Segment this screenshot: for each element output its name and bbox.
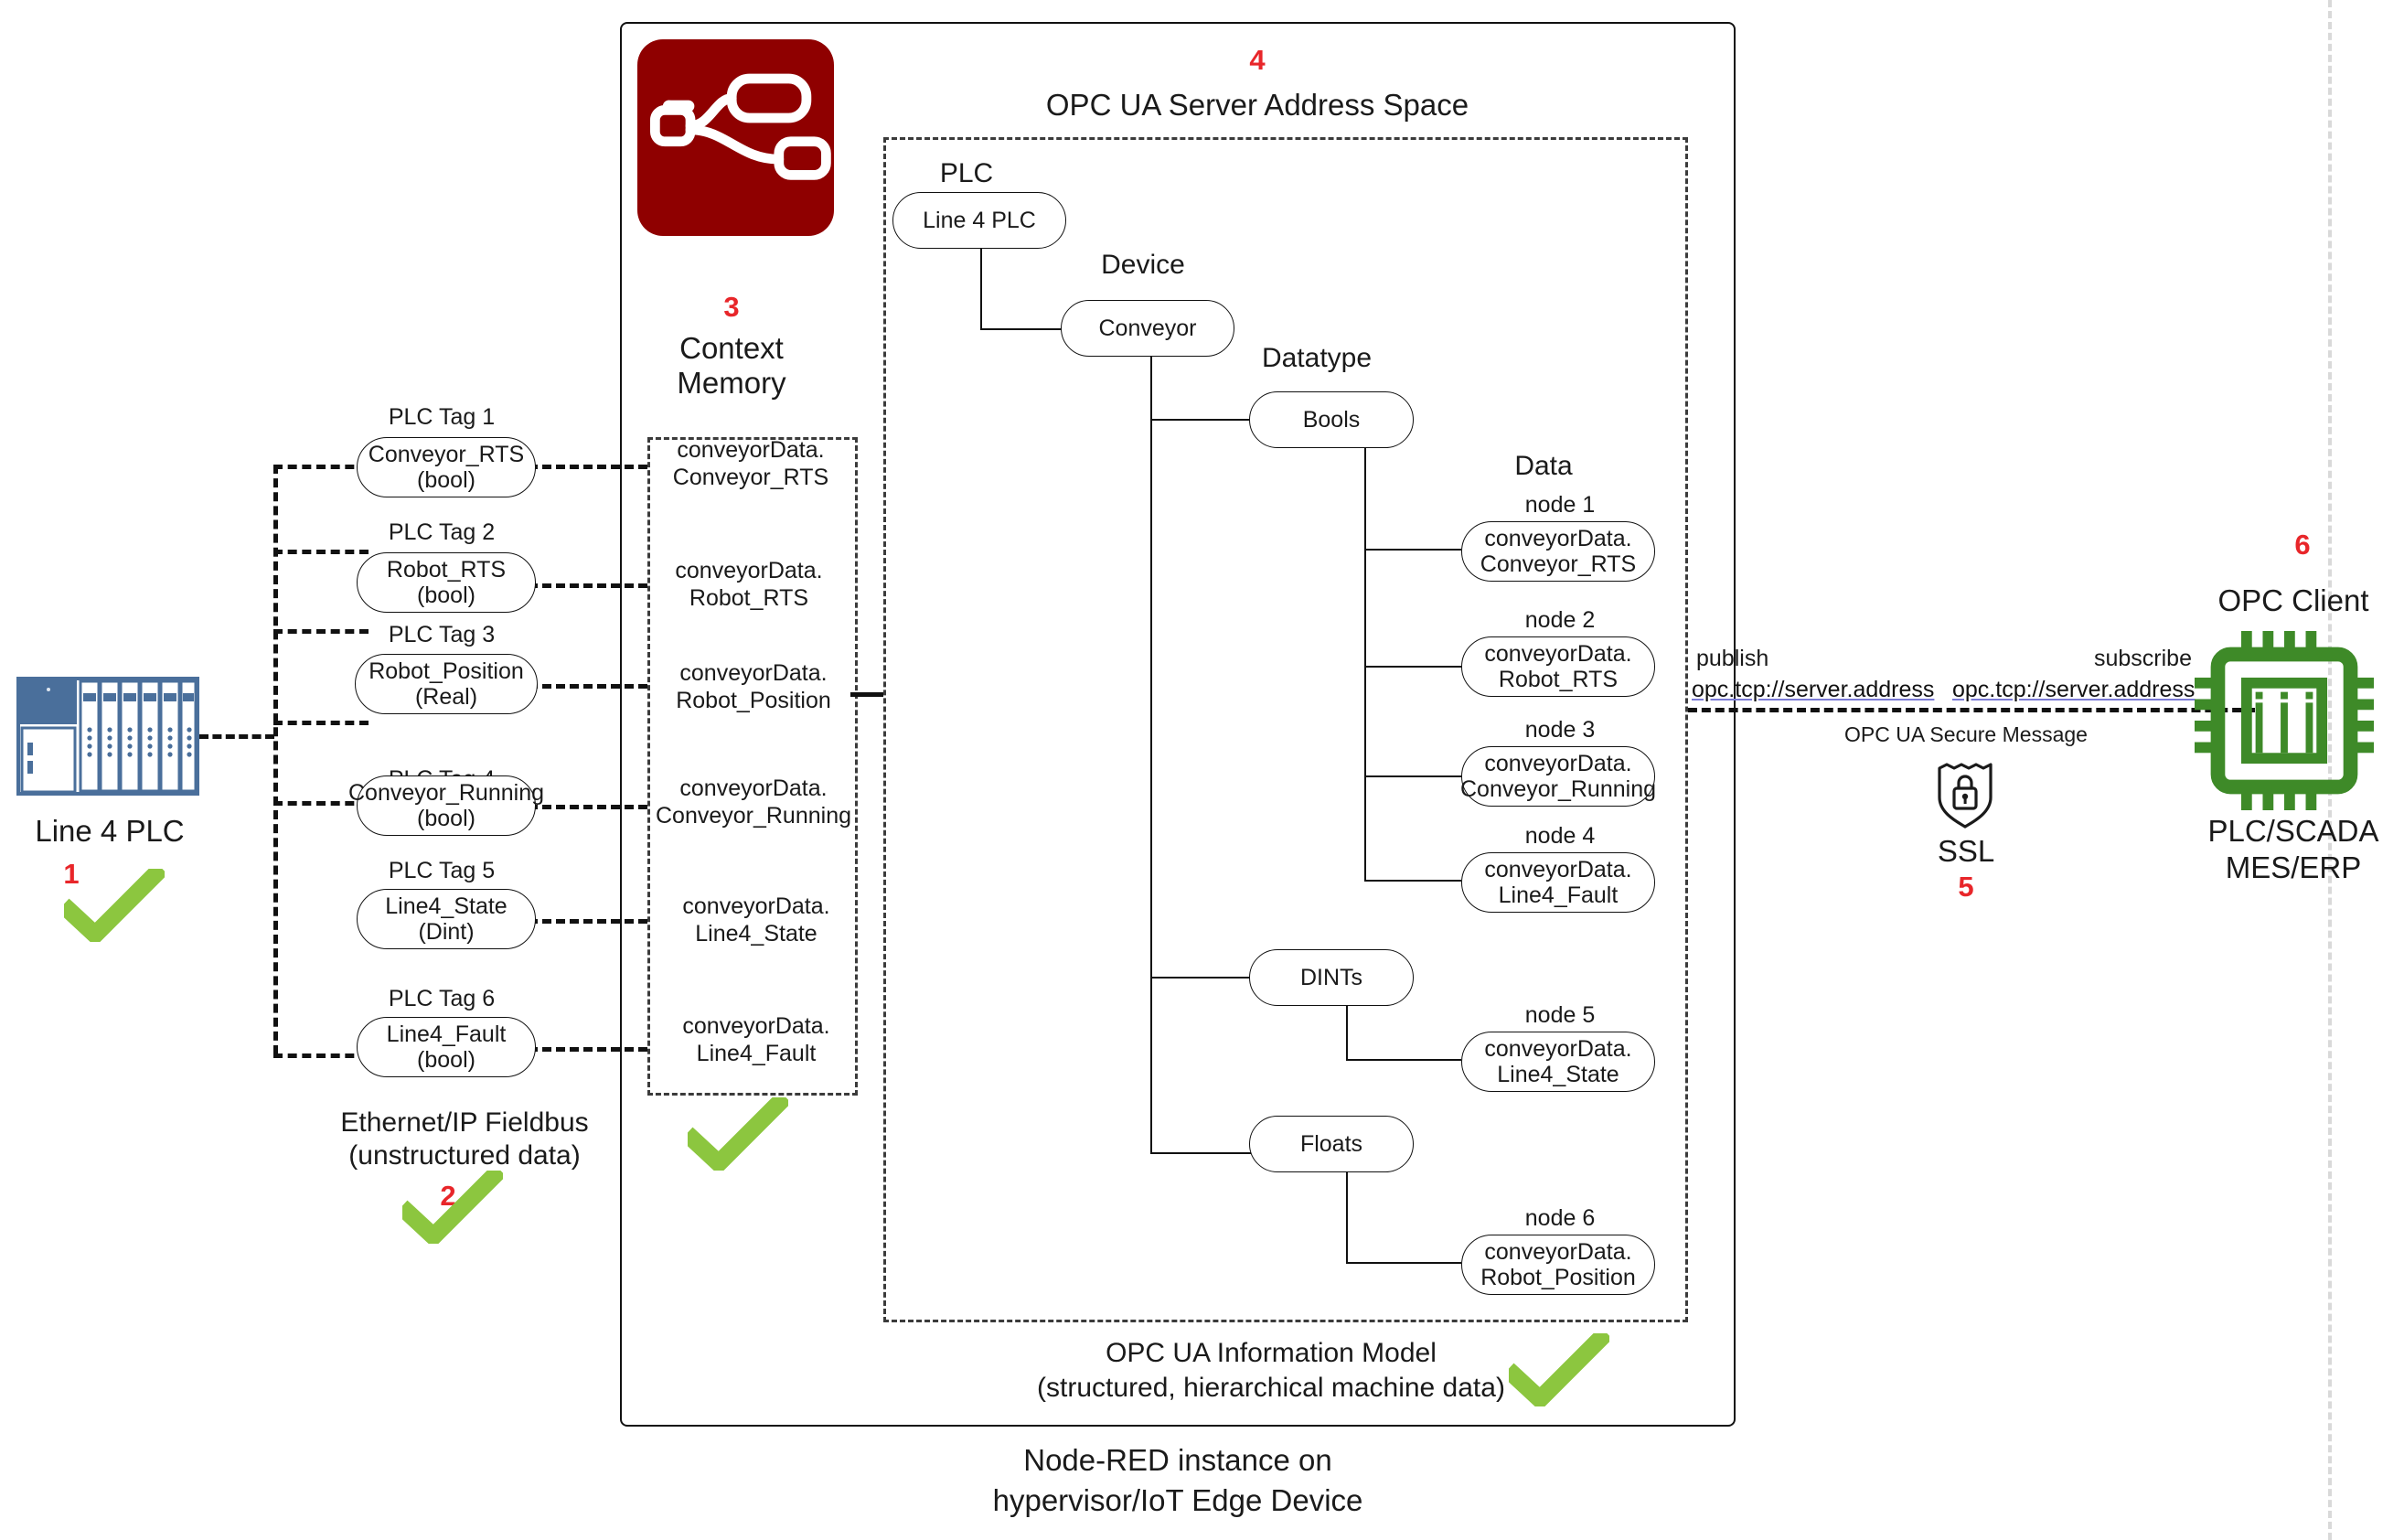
context-entry-3-line1: conveyorData. <box>639 660 868 688</box>
plc-tag-type-4: (bool) <box>348 806 544 831</box>
plc-tag-node-1[interactable]: Conveyor_RTS (bool) <box>357 437 536 497</box>
host-label-line2: hypervisor/IoT Edge Device <box>922 1483 1434 1519</box>
link-bools-node2 <box>1364 666 1461 668</box>
address-node-floats[interactable]: Floats <box>1249 1116 1414 1172</box>
address-space-title: OPC UA Server Address Space <box>956 88 1559 123</box>
host-label-line1: Node-RED instance on <box>922 1443 1434 1479</box>
link-bools-node4 <box>1364 880 1461 882</box>
publish-url[interactable]: opc.tcp://server.address <box>1692 677 1966 704</box>
link-device-datatype-v <box>1150 357 1152 1153</box>
context-memory-box <box>647 437 858 1096</box>
check-mark-4 <box>1509 1333 1609 1406</box>
link-plc-to-device-h <box>980 328 1063 330</box>
address-node-device[interactable]: Conveyor <box>1061 300 1234 357</box>
fieldbus-label-line1: Ethernet/IP Fieldbus <box>300 1107 629 1139</box>
data-node-2-line1: conveyorData. <box>1484 641 1631 667</box>
data-node-caption-2: node 2 <box>1469 607 1651 635</box>
fieldbus-branch-tag-6 <box>273 1053 369 1058</box>
data-node-6-line1: conveyorData. <box>1480 1239 1636 1265</box>
context-entry-3-line2: Robot_Position <box>639 688 868 715</box>
tag-to-context-5 <box>529 919 647 924</box>
plc-tag-caption-5: PLC Tag 5 <box>350 858 533 885</box>
opc-client-title: OPC Client <box>2165 583 2404 619</box>
address-node-dints[interactable]: DINTs <box>1249 949 1414 1006</box>
link-floats-node6-h <box>1346 1262 1461 1264</box>
tag-to-context-2 <box>529 583 647 588</box>
plc-tag-name-2: Robot_RTS <box>387 557 506 583</box>
data-node-6[interactable]: conveyorData. Robot_Position <box>1461 1235 1655 1295</box>
data-node-5-line1: conveyorData. <box>1484 1036 1631 1062</box>
secure-channel-line <box>1688 708 2255 712</box>
data-node-6-line2: Robot_Position <box>1480 1265 1636 1290</box>
data-node-4-line2: Line4_Fault <box>1484 882 1631 908</box>
plc-tag-type-2: (bool) <box>387 583 506 608</box>
plc-tag-caption-6: PLC Tag 6 <box>350 986 533 1013</box>
information-model-line1: OPC UA Information Model <box>933 1337 1609 1369</box>
address-node-bools[interactable]: Bools <box>1249 391 1414 448</box>
step-number-6: 6 <box>2284 529 2321 561</box>
data-node-1-line2: Conveyor_RTS <box>1480 551 1636 577</box>
context-entry-4-line2: Conveyor_Running <box>636 803 871 830</box>
address-node-plc[interactable]: Line 4 PLC <box>892 192 1066 249</box>
link-bools-node3 <box>1364 775 1461 777</box>
link-dints-node5-h <box>1346 1059 1461 1061</box>
link-plc-to-device-v <box>980 249 982 330</box>
context-entry-6-line2: Line4_Fault <box>642 1041 871 1068</box>
plc-tag-caption-3: PLC Tag 3 <box>350 622 533 649</box>
cpu-chip-icon <box>2195 631 2374 810</box>
data-node-5[interactable]: conveyorData. Line4_State <box>1461 1032 1655 1092</box>
fieldbus-link-from-plc <box>199 734 274 739</box>
publish-label: publish <box>1696 646 1879 673</box>
context-entry-4: conveyorData. Conveyor_Running <box>636 775 871 829</box>
context-entry-1-line2: Conveyor_RTS <box>636 465 865 492</box>
check-mark-3 <box>688 1097 788 1171</box>
data-node-1-line1: conveyorData. <box>1480 526 1636 551</box>
opc-client-sub-line1: PLC/SCADA <box>2165 814 2404 850</box>
plc-tag-type-5: (Dint) <box>385 919 507 945</box>
plc-tag-name-6: Line4_Fault <box>387 1021 507 1047</box>
fieldbus-branch-tag-1 <box>273 465 369 469</box>
level-label-data: Data <box>1470 450 1617 482</box>
check-mark-2 <box>402 1171 503 1244</box>
node-red-logo <box>637 39 834 236</box>
context-entry-1: conveyorData. Conveyor_RTS <box>636 437 865 491</box>
context-entry-6-line1: conveyorData. <box>642 1013 871 1041</box>
tag-to-context-3 <box>529 684 647 689</box>
data-node-caption-3: node 3 <box>1469 717 1651 744</box>
data-node-4[interactable]: conveyorData. Line4_Fault <box>1461 852 1655 913</box>
link-bools-children-v <box>1364 448 1366 882</box>
data-node-5-line2: Line4_State <box>1484 1062 1631 1087</box>
context-entry-6: conveyorData. Line4_Fault <box>642 1013 871 1067</box>
plc-label: Line 4 PLC <box>0 814 219 850</box>
link-bools-node1 <box>1364 549 1461 551</box>
context-entry-4-line1: conveyorData. <box>636 775 871 803</box>
context-memory-title-line1: Context <box>640 331 823 367</box>
context-entry-5-line1: conveyorData. <box>642 893 871 921</box>
plc-tag-caption-2: PLC Tag 2 <box>350 519 533 547</box>
plc-tag-node-6[interactable]: Line4_Fault (bool) <box>357 1017 536 1077</box>
plc-tag-node-3[interactable]: Robot_Position (Real) <box>355 654 538 714</box>
data-node-caption-4: node 4 <box>1469 823 1651 850</box>
step-number-3: 3 <box>713 291 750 324</box>
step-number-4: 4 <box>1239 44 1276 77</box>
tag-to-context-1 <box>529 465 647 469</box>
fieldbus-label-line2: (unstructured data) <box>300 1139 629 1171</box>
link-datatype-dints <box>1150 977 1251 979</box>
data-node-2-line2: Robot_RTS <box>1484 667 1631 692</box>
level-label-device: Device <box>1070 249 1216 281</box>
plc-tag-name-5: Line4_State <box>385 893 507 919</box>
plc-tag-node-4[interactable]: Conveyor_Running (bool) <box>357 775 536 836</box>
context-to-address-space-link <box>850 692 883 697</box>
context-memory-title-line2: Memory <box>640 366 823 401</box>
subscribe-url[interactable]: opc.tcp://server.address <box>1952 677 2227 704</box>
step-number-5: 5 <box>1948 871 1984 904</box>
data-node-3[interactable]: conveyorData. Conveyor_Running <box>1461 746 1655 807</box>
ssl-label: SSL <box>1888 834 2044 870</box>
tag-to-context-4 <box>529 805 647 809</box>
data-node-2[interactable]: conveyorData. Robot_RTS <box>1461 636 1655 697</box>
fieldbus-branch-tag-4 <box>273 721 369 725</box>
context-entry-5: conveyorData. Line4_State <box>642 893 871 947</box>
plc-tag-type-1: (bool) <box>369 467 524 493</box>
data-node-caption-6: node 6 <box>1469 1205 1651 1233</box>
data-node-caption-1: node 1 <box>1469 492 1651 519</box>
shield-lock-icon <box>1934 759 1996 830</box>
link-dints-node5-v <box>1346 1006 1348 1061</box>
data-node-3-line2: Conveyor_Running <box>1460 776 1656 802</box>
level-label-plc: PLC <box>916 157 1017 189</box>
context-entry-2: conveyorData. Robot_RTS <box>635 558 863 612</box>
context-entry-1-line1: conveyorData. <box>636 437 865 465</box>
level-label-datatype: Datatype <box>1225 342 1408 374</box>
link-floats-node6-v <box>1346 1172 1348 1264</box>
plc-tag-type-6: (bool) <box>387 1047 507 1073</box>
opc-client-sub-line2: MES/ERP <box>2165 850 2404 886</box>
plc-tag-name-4: Conveyor_Running <box>348 780 544 806</box>
plc-tag-node-2[interactable]: Robot_RTS (bool) <box>357 552 536 613</box>
context-entry-3: conveyorData. Robot_Position <box>639 660 868 714</box>
plc-rack-icon <box>16 677 199 796</box>
context-entry-2-line2: Robot_RTS <box>635 585 863 613</box>
plc-tag-name-3: Robot_Position <box>369 658 524 684</box>
data-node-3-line1: conveyorData. <box>1460 751 1656 776</box>
information-model-line2: (structured, hierarchical machine data) <box>933 1372 1609 1404</box>
tag-to-context-6 <box>529 1047 647 1052</box>
plc-tag-name-1: Conveyor_RTS <box>369 442 524 467</box>
fieldbus-branch-tag-2 <box>273 550 369 554</box>
link-datatype-bools <box>1150 419 1251 421</box>
data-node-4-line1: conveyorData. <box>1484 857 1631 882</box>
data-node-caption-5: node 5 <box>1469 1002 1651 1030</box>
context-entry-2-line1: conveyorData. <box>635 558 863 585</box>
link-datatype-floats <box>1150 1152 1251 1154</box>
plc-tag-node-5[interactable]: Line4_State (Dint) <box>357 889 536 949</box>
plc-tag-type-3: (Real) <box>369 684 524 710</box>
data-node-1[interactable]: conveyorData. Conveyor_RTS <box>1461 521 1655 582</box>
plc-tag-caption-1: PLC Tag 1 <box>350 404 533 432</box>
context-entry-5-line2: Line4_State <box>642 921 871 948</box>
check-mark-1 <box>64 869 165 942</box>
secure-message-label: OPC UA Secure Message <box>1820 722 2112 747</box>
